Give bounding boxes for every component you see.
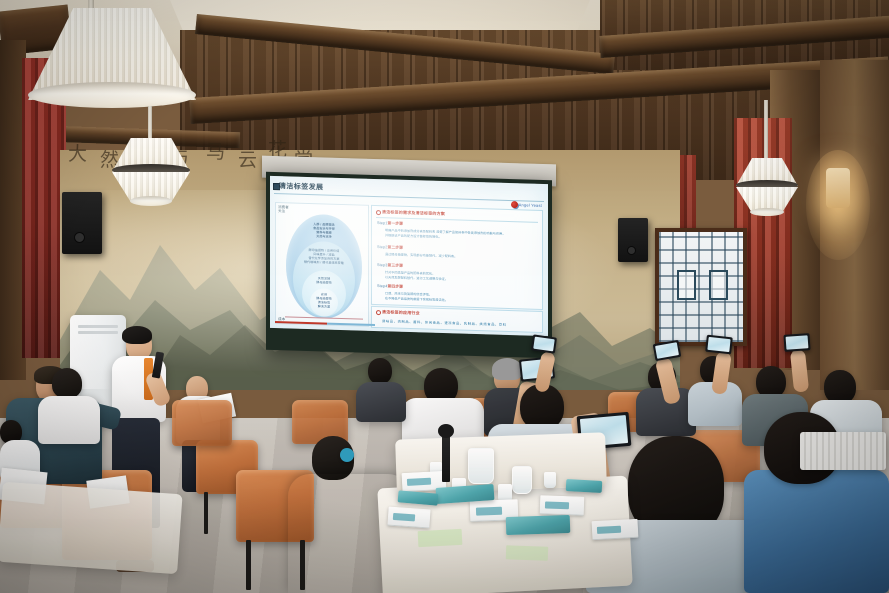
onion-ring-4-text: 安琪 酵母抽提物 清洁标签 解决方案 <box>313 292 335 309</box>
step-2-key: Step2 <box>377 245 387 249</box>
steps-heading-bullet-icon <box>376 210 381 216</box>
step-2-body: 通过酵母抽提物，实现部分功能替代，减少配料表。 <box>385 252 535 261</box>
product-package-4 <box>566 479 603 493</box>
slide-title-rule <box>274 193 544 202</box>
table-left <box>0 482 183 574</box>
phone-right-2-screen <box>707 337 730 352</box>
step-4-key: Step4 <box>377 284 387 288</box>
chair-leg-a1 <box>204 492 208 534</box>
step-1-label: Step1第一步骤 <box>377 221 403 227</box>
onion-ring-2-text: 酵母抽提物 / 应用价值 风味提升 / 减盐 替代化学添加剂的方案 替代增味剂 … <box>297 248 351 266</box>
chair-left-back <box>172 400 232 446</box>
industries-tags: 调味品、肉制品、酱料、休闲食品、速冻食品、乳制品、烘焙食品、饮料 <box>382 318 538 328</box>
speaker-cone-right <box>627 246 636 255</box>
phone-center-2-screen <box>533 337 554 352</box>
step-3-body: 针对不同类型产品的配料表的优化， 以天然发酵配料替代，进行工艺调整与验证。 <box>385 270 535 284</box>
ceiling-speaker-left <box>62 192 102 254</box>
step-4-name: 第四步骤 <box>387 284 403 288</box>
center-attendee-3-head <box>368 358 392 384</box>
slide-onion-diagram-panel: 消费者 关注 成本 人群 / 品牌理念 食品安全与环保 营养与健康 天然与洁净 … <box>275 202 369 327</box>
water-pitcher-2 <box>512 466 532 494</box>
ceiling-speaker-right <box>618 218 648 262</box>
name-card-4 <box>387 507 430 529</box>
step-2-name: 第二步骤 <box>387 245 403 249</box>
table-microphone-head <box>438 424 454 438</box>
center-attendee-2-hair <box>492 358 522 380</box>
center-attendee-3-shirt <box>356 382 406 422</box>
aircon-vent-2 <box>78 331 118 334</box>
name-card-5 <box>592 519 639 540</box>
phone-right-3-screen <box>786 335 809 350</box>
lattice-window <box>655 228 747 346</box>
projector <box>800 432 886 470</box>
phone-right-2[interactable] <box>705 335 733 355</box>
step-3-name: 第三步骤 <box>387 263 403 267</box>
svg-text:云: 云 <box>238 150 257 171</box>
pendant-lamp-large-rim <box>28 82 196 108</box>
slide-industries-panel: 清洁标签的应用行业 调味品、肉制品、酱料、休闲食品、速冻食品、乳制品、烘焙食品、… <box>371 306 543 333</box>
step-3-key: Step3 <box>377 263 387 267</box>
industries-heading-bullet-icon <box>376 310 381 316</box>
step-1-body: 明确产品中的添加剂成分表及配料表 清楚了解产品配料表中各类添加剂的功能与作用， … <box>385 228 535 242</box>
notepad-green-1 <box>418 529 463 547</box>
pendant-lamp-mid-rim <box>130 196 172 206</box>
product-package-2 <box>506 515 571 535</box>
onion-ring-1-text: 人群 / 品牌理念 食品安全与环保 营养与健康 天然与洁净 <box>292 222 356 240</box>
phone-right-1-screen <box>655 342 679 359</box>
slide-title: 清洁标签发展 <box>279 181 323 192</box>
lamp-cord-2 <box>148 106 152 142</box>
steps-heading: 清洁标签的需求及清洁标签的方案 <box>382 209 445 217</box>
presentation-slide: 清洁标签发展 Angel Yeast 消费者 关注 成本 人群 / 品牌理念 食… <box>270 176 548 336</box>
slide-logo: Angel Yeast <box>511 201 542 209</box>
left-attendee-2-shirt <box>38 396 100 444</box>
step-4-body: 口感、风味与货架期的综合评估， 在不降低产品品质的前提下实现标签清洁化。 <box>385 291 535 305</box>
industries-heading: 清洁标签的应用行业 <box>382 309 420 316</box>
conference-hall-photo: 大然如 与马云 花堂 清洁标签发展 <box>0 0 889 593</box>
slide-steps-panel: 清洁标签的需求及清洁标签的方案 Step1第一步骤 明确产品中的添加剂成分表及配… <box>371 205 543 310</box>
name-card-1-band <box>407 478 431 486</box>
logo-mark-icon <box>511 201 518 208</box>
onion-ring-4: 安琪 酵母抽提物 清洁标签 解决方案 <box>310 288 338 317</box>
step-1-name: 第一步骤 <box>387 221 403 225</box>
wall-sconce <box>826 168 850 208</box>
left-attendee-2-hair <box>52 368 82 398</box>
phone-right-3[interactable] <box>783 333 810 352</box>
step-4-label: Step4第四步骤 <box>377 284 403 290</box>
paper-cup-3 <box>544 472 556 488</box>
pendant-lamp-right-rim <box>750 208 784 216</box>
foreground-far-right-shirt <box>744 470 889 593</box>
water-pitcher-1 <box>468 448 494 484</box>
step-3-label: Step3第三步骤 <box>377 263 403 269</box>
onion-baseline <box>285 316 363 319</box>
logo-text: Angel Yeast <box>519 202 542 208</box>
onion-axis-top-label: 消费者 关注 <box>278 205 289 214</box>
lamp-cord-3 <box>764 100 768 162</box>
projection-screen: 清洁标签发展 Angel Yeast 消费者 关注 成本 人群 / 品牌理念 食… <box>262 160 556 360</box>
svg-text:马: 马 <box>206 142 225 163</box>
polkadot-hairclip <box>340 448 354 462</box>
name-card-5-band <box>597 526 621 534</box>
window-pane <box>659 232 743 342</box>
window-motif-left <box>677 270 696 300</box>
chair-leg-b1 <box>246 540 251 590</box>
svg-text:大: 大 <box>68 143 87 165</box>
window-motif-right <box>709 270 728 300</box>
name-card-4-band <box>393 513 415 522</box>
aircon-vent-1 <box>78 325 118 328</box>
name-card-2-band <box>476 507 502 516</box>
step-2-label: Step2第二步骤 <box>377 245 403 251</box>
notepad-green-2 <box>506 545 548 560</box>
speaker-cone-left <box>74 232 85 243</box>
name-card-3 <box>540 495 585 516</box>
phone-center-2[interactable] <box>531 334 557 353</box>
right-attendee-4-head <box>824 370 856 404</box>
presenter-hair <box>122 326 152 344</box>
step-1-key: Step1 <box>377 221 387 225</box>
onion-ring-3-text: 天然发酵 酵母抽提物 <box>307 276 341 285</box>
name-card-3-band <box>545 501 569 509</box>
